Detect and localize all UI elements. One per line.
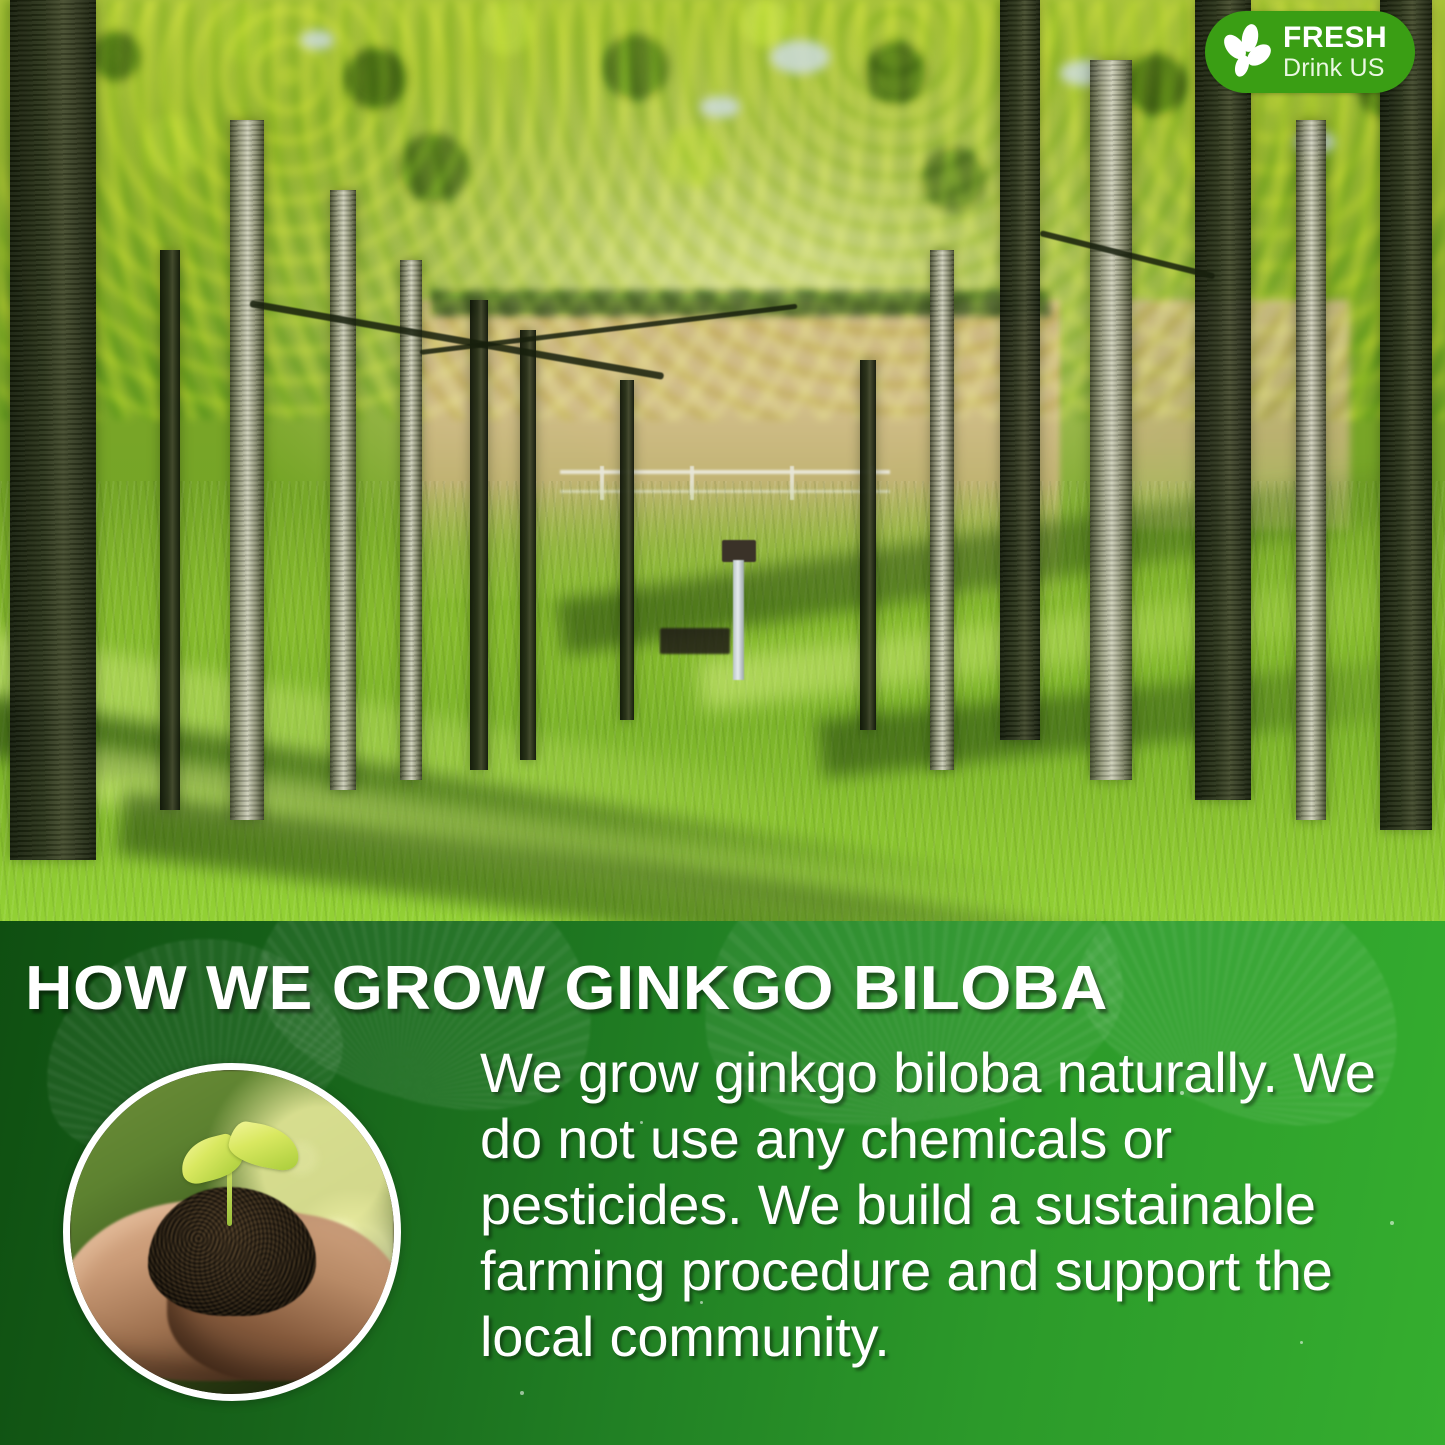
tree-trunk [860, 360, 876, 730]
brand-logo-badge[interactable]: FRESH Drink US [1205, 11, 1415, 93]
product-infographic: FRESH Drink US HOW WE GROW GINKGO BILOBA [0, 0, 1445, 1445]
sky-gap [700, 96, 740, 118]
bark-texture [230, 120, 264, 820]
birdhouse [722, 540, 756, 562]
bark-texture [1090, 60, 1132, 780]
tree-trunk [470, 300, 488, 770]
bark-texture [330, 190, 356, 790]
tree-trunk [330, 190, 356, 790]
tree-trunk [930, 250, 954, 770]
tree-trunk [160, 250, 180, 810]
forest-photo [0, 0, 1445, 921]
tree-trunk [10, 0, 96, 860]
bark-texture [1000, 0, 1040, 740]
sky-gap [300, 30, 334, 50]
bark-texture [1195, 0, 1251, 800]
tree-trunk [230, 120, 264, 820]
tree-trunk [620, 380, 634, 720]
sky-gap [770, 40, 830, 74]
tree-trunk [1296, 120, 1326, 820]
bark-texture [930, 250, 954, 770]
bark-texture [1380, 0, 1432, 830]
tree-trunk [1000, 0, 1040, 740]
page-title: HOW WE GROW GINKGO BILOBA [25, 958, 1108, 1020]
logo-wordmark: FRESH Drink US [1283, 23, 1387, 81]
logo-primary-text: FRESH [1283, 23, 1387, 53]
body-copy: We grow ginkgo biloba naturally. We do n… [480, 1040, 1410, 1370]
tree-trunk [1380, 0, 1432, 830]
bark-texture [1296, 120, 1326, 820]
sparkle [520, 1391, 524, 1395]
bark-texture [400, 260, 422, 780]
tree-trunk [400, 260, 422, 780]
hands-seedling-photo [63, 1063, 401, 1401]
park-bench [660, 628, 730, 654]
tree-trunk [1195, 0, 1251, 800]
logo-secondary-text: Drink US [1283, 56, 1387, 81]
tree-trunk [520, 330, 536, 760]
birdhouse-post [733, 560, 744, 680]
tree-trunk [1090, 60, 1132, 780]
bark-texture [10, 0, 96, 860]
leaf-cluster-icon [1215, 21, 1277, 83]
